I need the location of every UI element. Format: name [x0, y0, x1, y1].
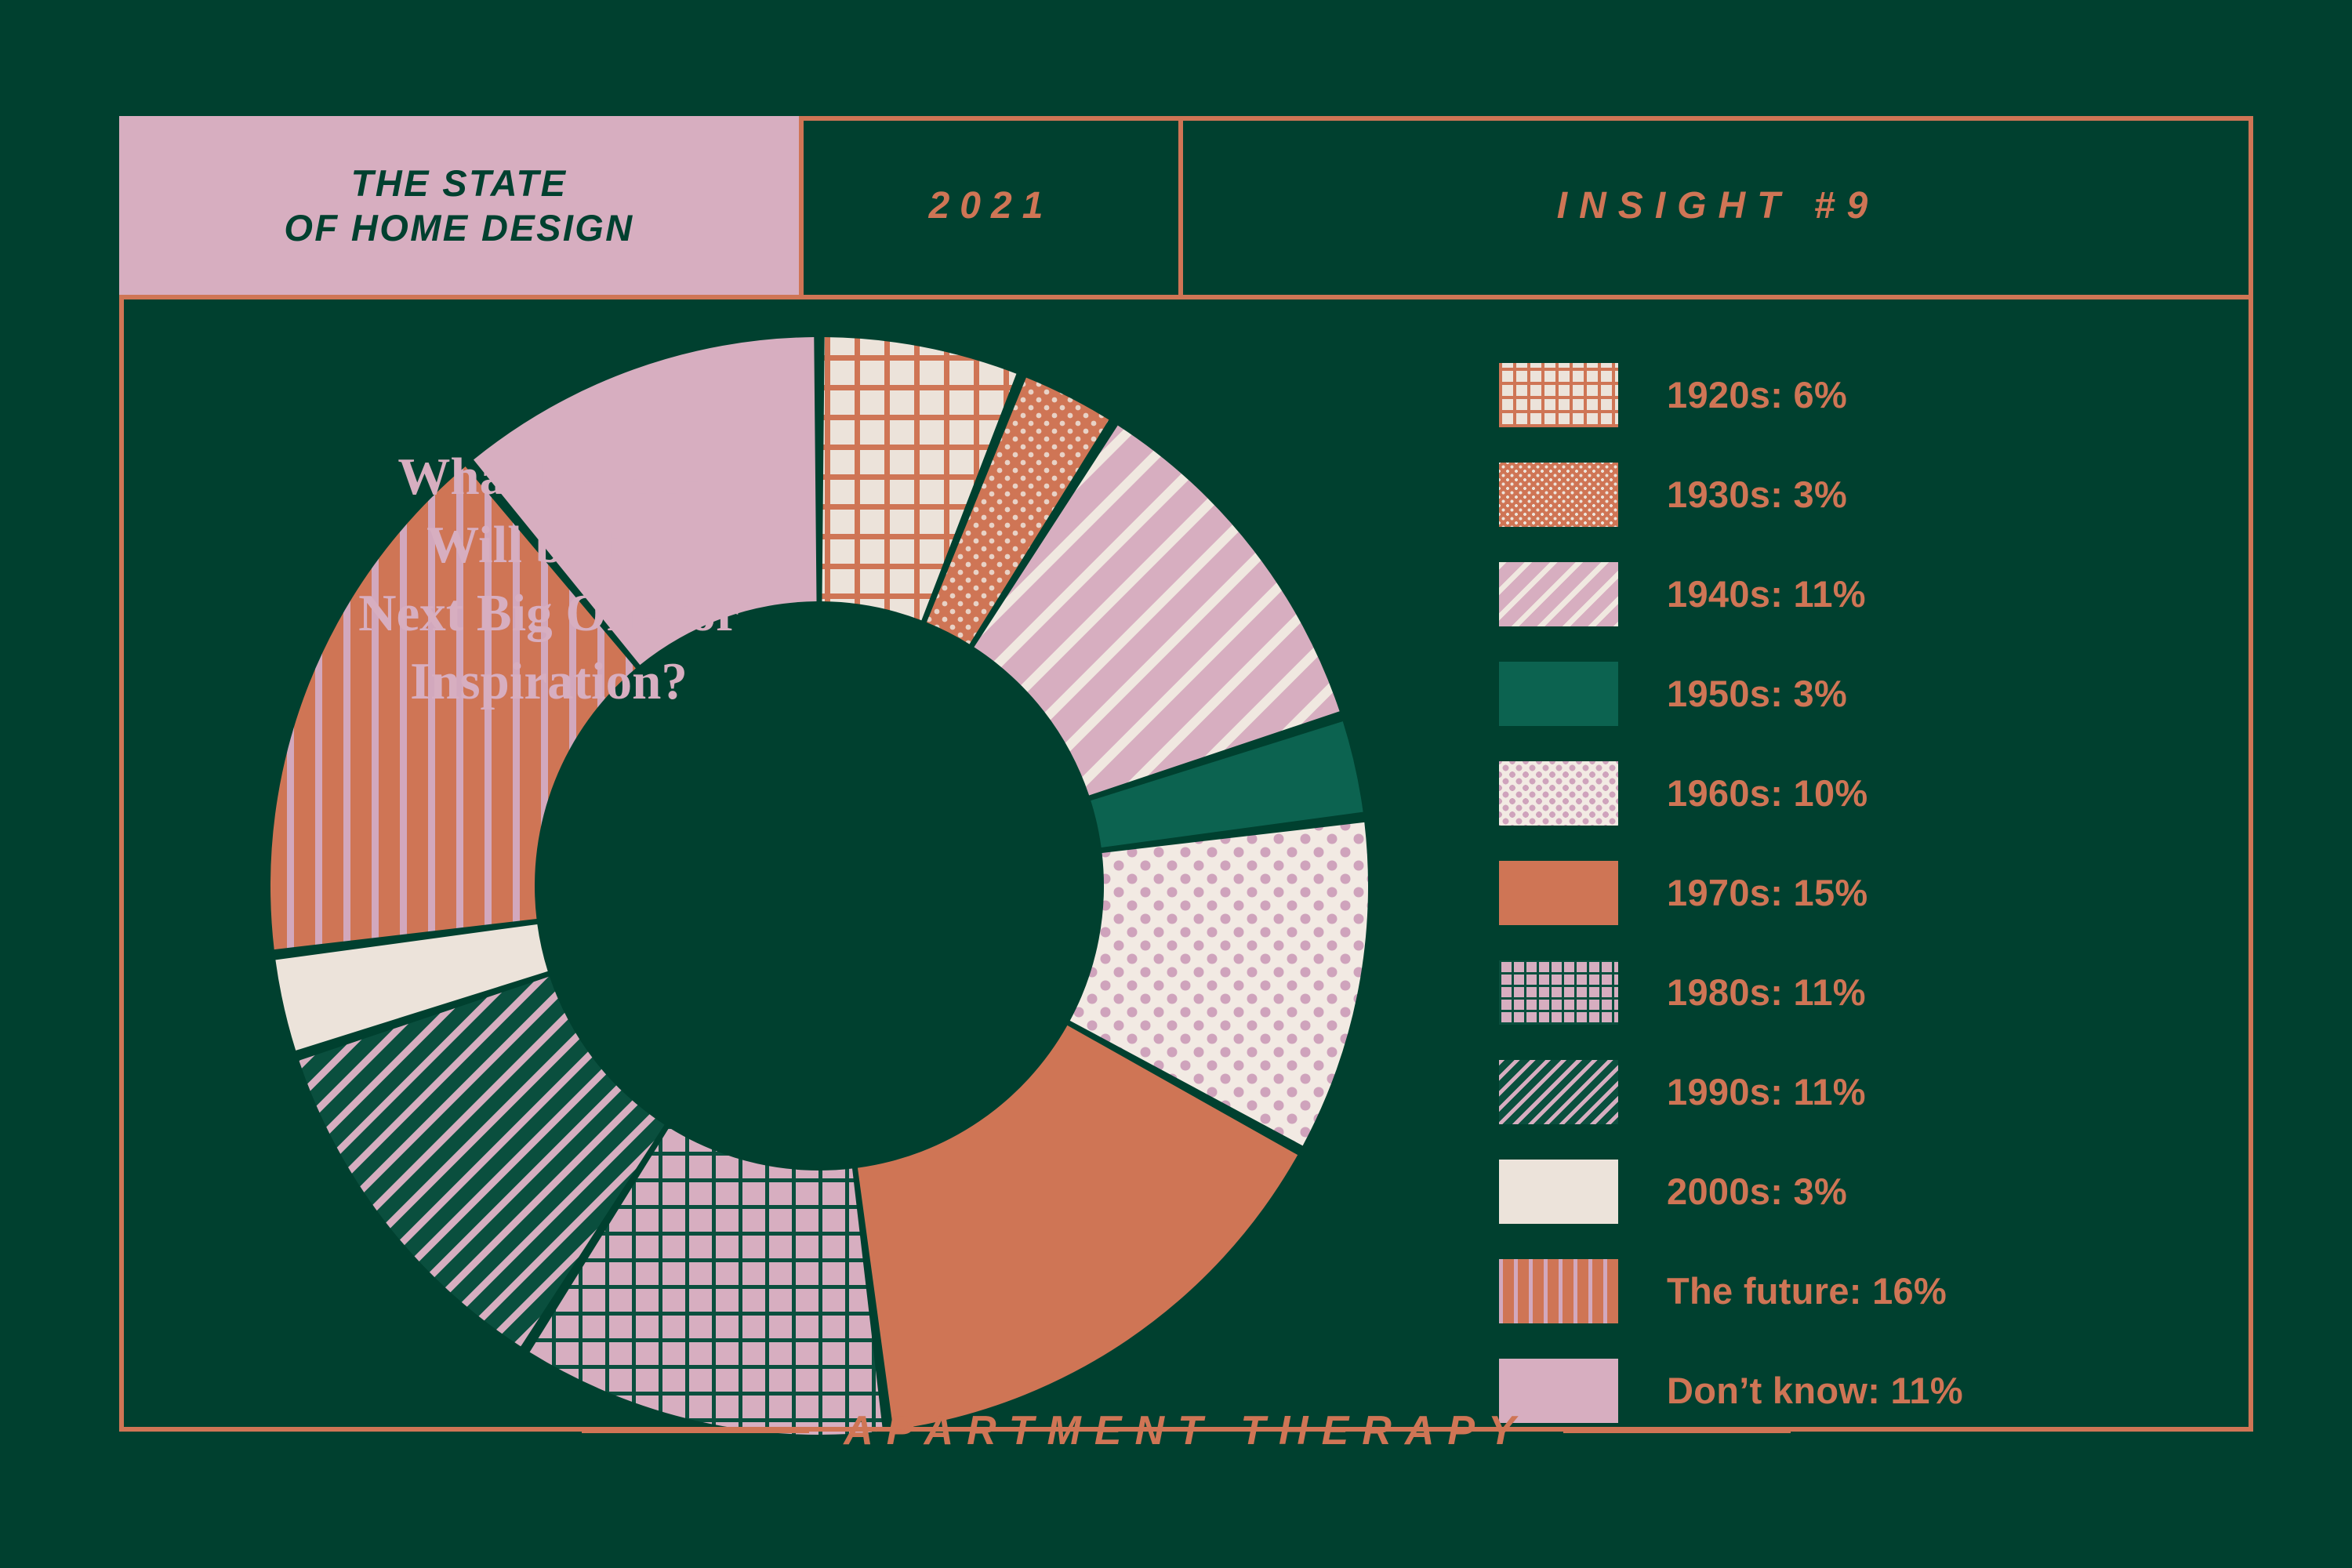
legend-row[interactable]: 1970s: 15%	[1499, 843, 2126, 942]
legend-row[interactable]: 1940s: 11%	[1499, 544, 2126, 644]
legend-swatch-grid-coral-on-cream	[1499, 363, 1618, 427]
report-title-cell: THE STATE OF HOME DESIGN	[119, 116, 804, 295]
legend-label: 1920s: 6%	[1667, 373, 1847, 416]
legend-label: 2000s: 3%	[1667, 1170, 1847, 1213]
legend-row[interactable]: 1950s: 3%	[1499, 644, 2126, 743]
footer-brand-bar: APARTMENT THERAPY	[119, 1388, 2253, 1474]
legend-swatch-vertical-pink-on-coral	[1499, 1259, 1618, 1323]
report-title-line-1: THE STATE	[351, 161, 568, 205]
brand-name: APARTMENT THERAPY	[844, 1407, 1529, 1454]
legend-swatch-dots-pink-on-cream	[1499, 761, 1618, 826]
legend-label: The future: 16%	[1667, 1269, 1947, 1312]
legend-row[interactable]: 1980s: 11%	[1499, 942, 2126, 1042]
legend-swatch-diagonal-pink-on-green	[1499, 1060, 1618, 1124]
legend-swatch-dots-cream-on-coral	[1499, 463, 1618, 527]
legend-row[interactable]: 1930s: 3%	[1499, 445, 2126, 544]
legend-label: 1990s: 11%	[1667, 1070, 1866, 1113]
footer-rule-right	[1563, 1428, 1791, 1433]
legend-row[interactable]: 1920s: 6%	[1499, 345, 2126, 445]
legend-row[interactable]: 1990s: 11%	[1499, 1042, 2126, 1142]
legend-label: 1940s: 11%	[1667, 572, 1866, 615]
legend-swatch-solid-coral	[1499, 861, 1618, 925]
infographic-poster: What Decade Will be the Next Big One for…	[0, 0, 2352, 1568]
legend-label: 1980s: 11%	[1667, 971, 1866, 1014]
report-title-line-2: OF HOME DESIGN	[284, 205, 633, 250]
legend-label: 1950s: 3%	[1667, 672, 1847, 715]
legend-label: 1970s: 15%	[1667, 871, 1867, 914]
report-year: 2021	[929, 184, 1054, 227]
legend-row[interactable]: 1960s: 10%	[1499, 743, 2126, 843]
legend-swatch-solid-green-mid	[1499, 662, 1618, 726]
insight-number: INSIGHT #9	[1557, 184, 1879, 227]
chart-legend: 1920s: 6%1930s: 3%1940s: 11%1950s: 3%196…	[1499, 345, 2126, 1440]
legend-row[interactable]: 2000s: 3%	[1499, 1142, 2126, 1241]
legend-swatch-grid-green-on-pink	[1499, 960, 1618, 1025]
footer-rule-left	[582, 1428, 809, 1433]
legend-swatch-solid-cream	[1499, 1160, 1618, 1224]
report-year-cell: 2021	[804, 116, 1183, 295]
insight-number-cell: INSIGHT #9	[1183, 116, 2253, 295]
legend-row[interactable]: The future: 16%	[1499, 1241, 2126, 1341]
legend-swatch-diagonal-cream-on-pink	[1499, 562, 1618, 626]
legend-label: 1960s: 10%	[1667, 771, 1867, 815]
legend-label: 1930s: 3%	[1667, 473, 1847, 516]
header-band: THE STATE OF HOME DESIGN 2021 INSIGHT #9	[119, 116, 2253, 299]
